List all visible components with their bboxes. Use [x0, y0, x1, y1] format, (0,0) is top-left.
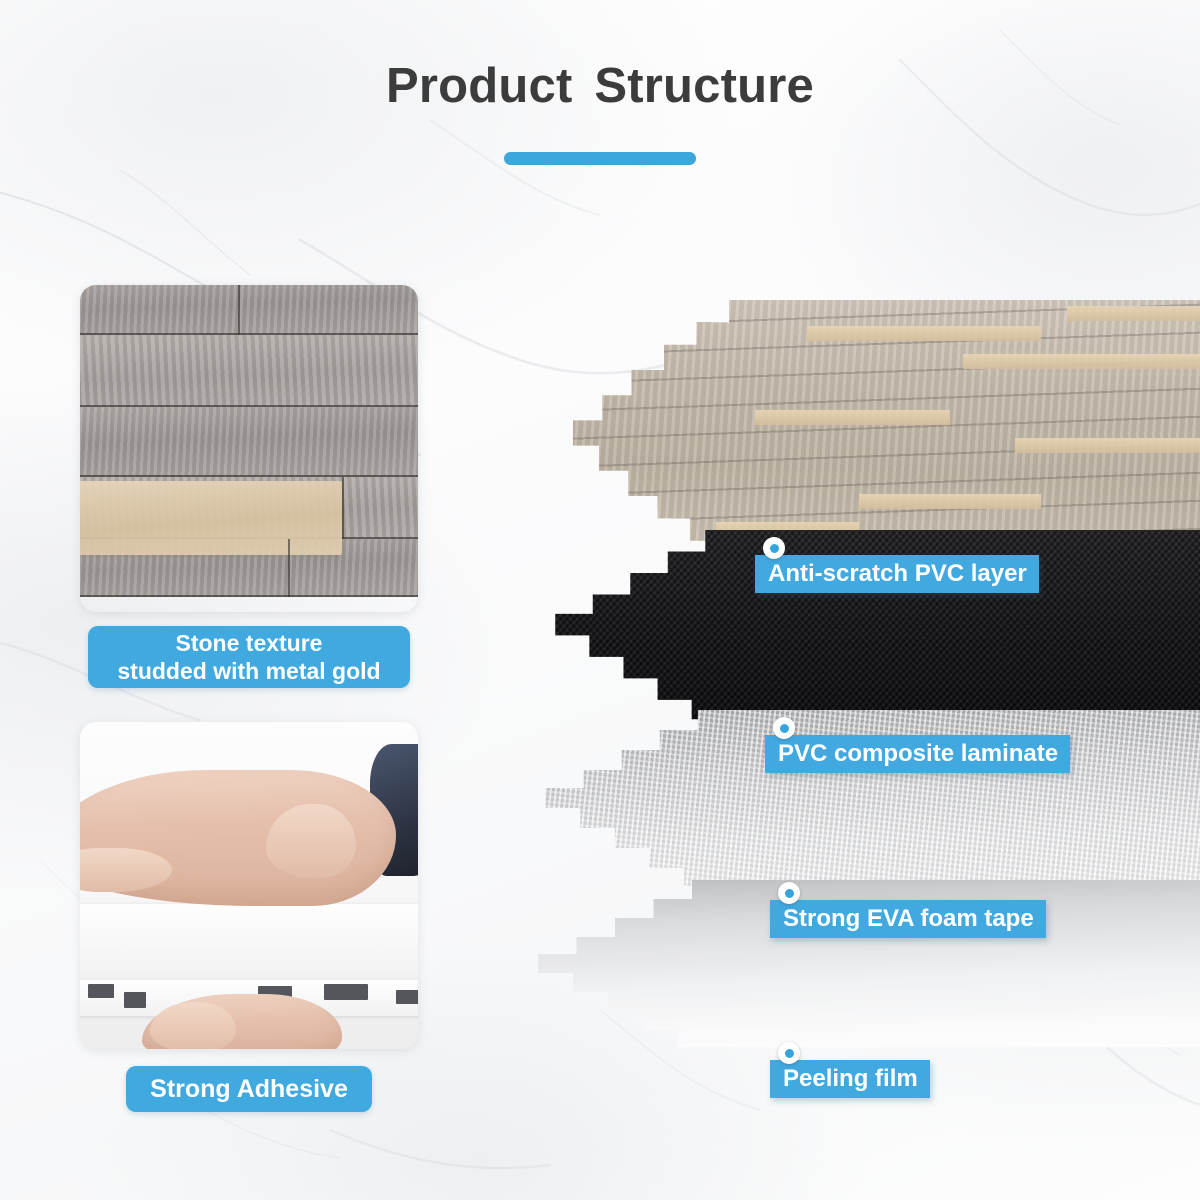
strong-adhesive-caption: Strong Adhesive	[126, 1066, 372, 1112]
caption-line-2: studded with metal gold	[117, 658, 380, 684]
callout-anti-scratch-pvc-layer: Anti-scratch PVC layer	[755, 555, 1039, 593]
strong-adhesive-image	[80, 722, 418, 1049]
callout-strong-eva-foam-tape: Strong EVA foam tape	[770, 900, 1046, 938]
callout-dot-icon	[778, 1042, 800, 1064]
callout-label: Peeling film	[770, 1060, 930, 1098]
callout-peeling-film: Peeling film	[770, 1060, 930, 1098]
stone-texture-photo	[80, 285, 418, 612]
title-accent-bar	[504, 152, 696, 165]
callout-dot-icon	[778, 882, 800, 904]
page-header: Product Structure	[0, 58, 1200, 165]
stone-texture-image	[80, 285, 418, 612]
callout-label: PVC composite laminate	[765, 735, 1070, 773]
strong-adhesive-photo	[80, 722, 418, 1049]
product-layer-stack: Anti-scratch PVC layer PVC composite lam…	[500, 280, 1200, 1120]
callout-dot-icon	[773, 717, 795, 739]
caption-line-1: Stone texture	[176, 630, 323, 656]
callout-dot-icon	[763, 537, 785, 559]
callout-label: Anti-scratch PVC layer	[755, 555, 1039, 593]
callout-label: Strong EVA foam tape	[770, 900, 1046, 938]
page-title: Product Structure	[0, 58, 1200, 114]
callout-pvc-composite-laminate: PVC composite laminate	[765, 735, 1070, 773]
stone-texture-caption: Stone texture studded with metal gold	[88, 626, 410, 688]
caption-text: Strong Adhesive	[150, 1075, 348, 1104]
